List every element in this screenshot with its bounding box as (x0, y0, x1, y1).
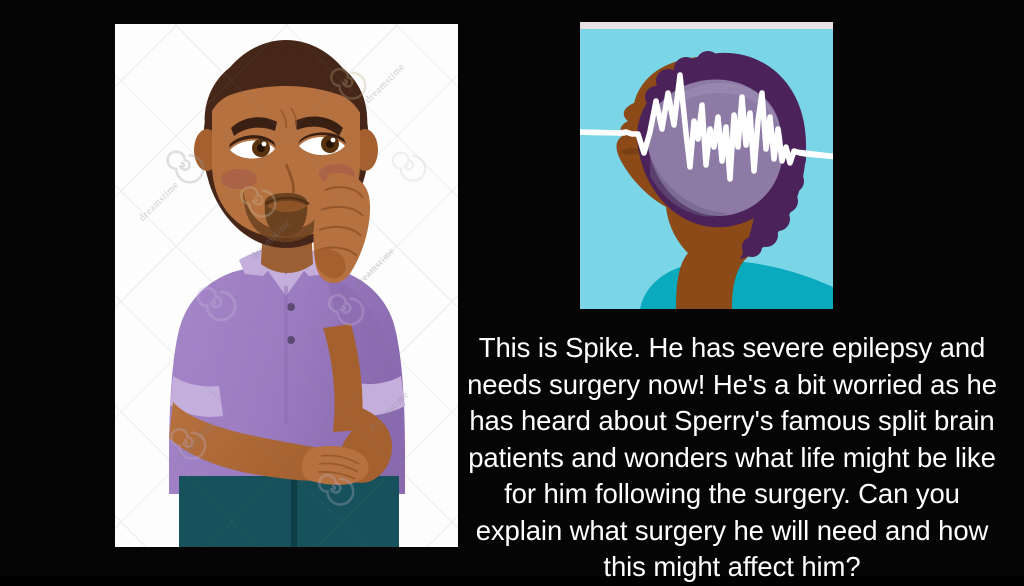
image-eeg-brain (580, 22, 833, 309)
eye-highlight-left (262, 142, 267, 147)
image-top-strip (580, 22, 833, 29)
slide-canvas: dreamstime dreamstime dreamstime dreamst… (0, 0, 1024, 576)
eeg-baseline-left (580, 132, 624, 133)
jeans-seam (291, 476, 297, 547)
jeans (179, 476, 399, 547)
caption-text: This is Spike. He has severe epilepsy an… (462, 330, 1002, 586)
blush-left (221, 169, 257, 189)
eye-highlight-right (331, 138, 336, 143)
worried-man-illustration (115, 24, 458, 547)
shirt-button-bottom (287, 336, 295, 344)
shirt-button-top (287, 303, 295, 311)
shirt-placket (284, 286, 288, 424)
image-worried-man: dreamstime dreamstime dreamstime dreamst… (115, 24, 458, 547)
eeg-brain-illustration (580, 29, 833, 309)
